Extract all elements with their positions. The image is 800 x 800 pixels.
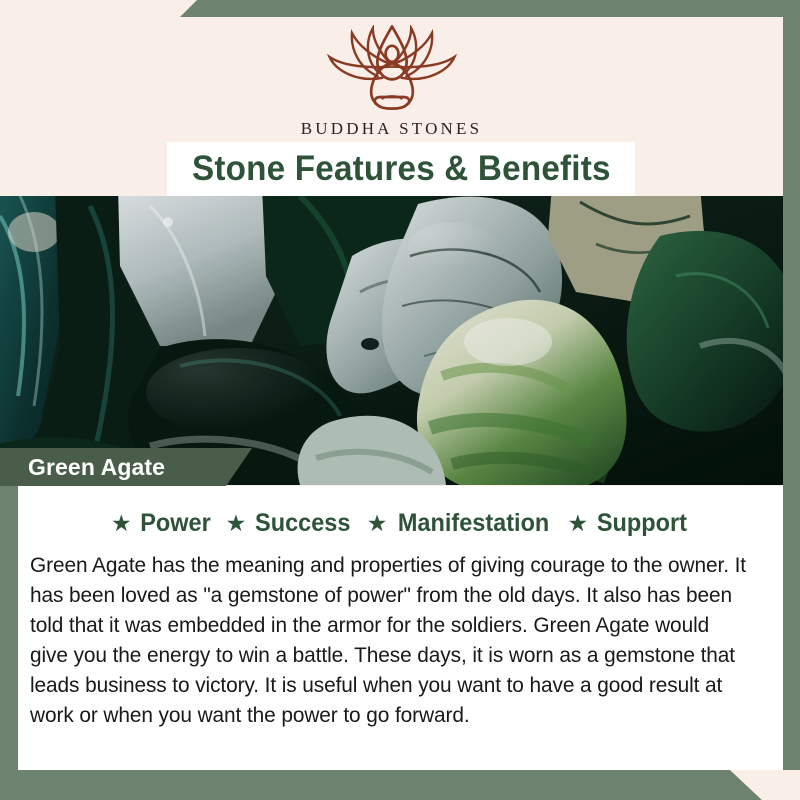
benefit-item-support: ★ Support xyxy=(568,509,690,538)
star-icon: ★ xyxy=(367,512,388,535)
benefit-label: Success xyxy=(255,509,350,538)
benefits-row: ★ Power ★ Success ★ Manifestation ★ Supp… xyxy=(18,486,783,538)
benefit-label: Manifestation xyxy=(398,509,549,538)
decorative-top-band xyxy=(180,0,800,17)
page-title-box: Stone Features & Benefits xyxy=(167,142,635,196)
content-panel: ★ Power ★ Success ★ Manifestation ★ Supp… xyxy=(18,486,783,770)
stone-name-banner: Green Agate xyxy=(0,448,252,486)
stone-photo-image xyxy=(0,196,783,485)
star-icon: ★ xyxy=(111,512,132,535)
benefit-label: Support xyxy=(597,509,687,538)
benefit-item-power: ★ Power xyxy=(111,509,213,538)
stone-photo xyxy=(0,196,783,485)
star-icon: ★ xyxy=(226,512,247,535)
brand-name: BUDDHA STONES xyxy=(0,119,783,139)
decorative-right-band xyxy=(783,17,800,800)
infographic-card: BUDDHA STONES Stone Features & Benefits xyxy=(0,0,800,800)
decorative-bottom-band xyxy=(0,770,800,800)
star-icon: ★ xyxy=(568,512,589,535)
brand-block: BUDDHA STONES xyxy=(0,25,783,139)
benefit-label: Power xyxy=(140,509,211,538)
stone-name: Green Agate xyxy=(28,454,165,481)
stone-description: Green Agate has the meaning and properti… xyxy=(30,550,751,730)
benefit-item-manifestation: ★ Manifestation xyxy=(367,509,555,538)
lotus-meditation-logo-icon xyxy=(312,25,472,117)
page-title: Stone Features & Benefits xyxy=(192,149,611,189)
benefit-item-success: ★ Success xyxy=(226,509,354,538)
header: BUDDHA STONES Stone Features & Benefits xyxy=(0,17,783,196)
